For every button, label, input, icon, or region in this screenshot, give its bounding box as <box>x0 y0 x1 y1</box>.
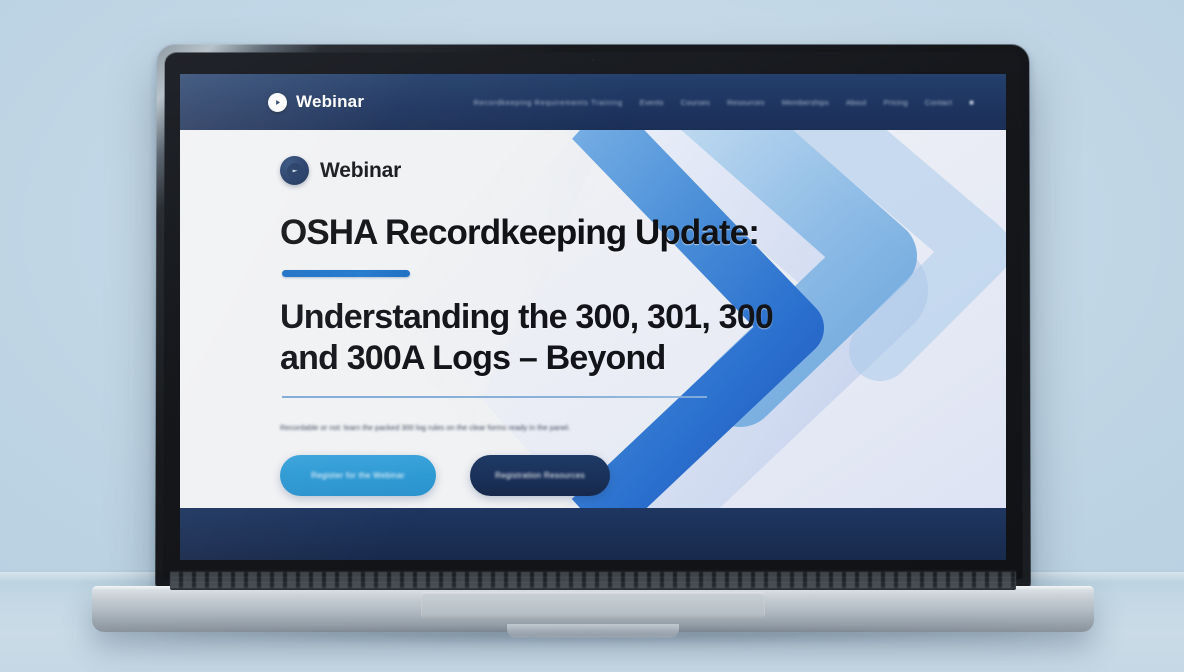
hamburger-icon[interactable]: ■ <box>969 98 974 107</box>
hero-brand-text: Webinar <box>320 159 401 183</box>
nav-link-about[interactable]: About <box>846 98 867 107</box>
resources-button[interactable]: Registration Resources <box>470 455 610 496</box>
hero-cta-row: Register for the Webinar Registration Re… <box>280 455 1006 496</box>
nav-link-events[interactable]: Events <box>640 98 664 107</box>
laptop-base <box>92 586 1094 632</box>
page-title: OSHA Recordkeeping Update: <box>280 215 1006 251</box>
hero-content: Webinar OSHA Recordkeeping Update: Under… <box>180 130 1006 496</box>
keyboard[interactable] <box>170 570 1016 590</box>
scene: Vlontacton Webinar Recordkeeping Require… <box>0 0 1184 672</box>
play-circle-icon <box>268 93 287 112</box>
laptop-shadow <box>104 630 1082 646</box>
nav-link-recordkeeping-requirements-training[interactable]: Recordkeeping Requirements Training <box>474 98 623 107</box>
nav-link-contact[interactable]: Contact <box>925 98 952 107</box>
webcam-icon <box>591 58 595 62</box>
hero-description: Recordable or not: learn the packed 300 … <box>280 422 690 434</box>
register-button-label: Register for the Webinar <box>311 471 405 480</box>
site-footer-bar <box>180 508 1006 560</box>
site-navbar: Webinar Recordkeeping Requirements Train… <box>180 74 1006 130</box>
laptop-screen: Webinar Recordkeeping Requirements Train… <box>180 74 1006 560</box>
resources-button-label: Registration Resources <box>495 471 585 480</box>
nav-link-pricing[interactable]: Pricing <box>884 98 908 107</box>
keyboard-keys <box>170 572 1016 588</box>
horizontal-divider <box>282 396 707 398</box>
nav-link-memberships[interactable]: Memberships <box>782 98 829 107</box>
page-subtitle-line-2: and 300A Logs – Beyond <box>280 338 1006 378</box>
navbar-logo[interactable]: Webinar <box>268 92 364 112</box>
nav-link-resources[interactable]: Resources <box>727 98 765 107</box>
navbar-links: Recordkeeping Requirements Training Even… <box>474 98 980 107</box>
page-subtitle-line-1: Understanding the 300, 301, 300 <box>280 297 1006 337</box>
hero-brand: Webinar <box>280 156 1006 185</box>
hero-section: Webinar OSHA Recordkeeping Update: Under… <box>180 130 1006 508</box>
nav-link-courses[interactable]: Courses <box>681 98 710 107</box>
title-accent-bar <box>282 270 410 277</box>
trackpad[interactable] <box>421 592 765 618</box>
register-button[interactable]: Register for the Webinar <box>280 455 436 496</box>
laptop-device: Vlontacton Webinar Recordkeeping Require… <box>0 0 1184 672</box>
webinar-mark-icon <box>280 156 309 185</box>
navbar-logo-text: Webinar <box>296 92 364 112</box>
